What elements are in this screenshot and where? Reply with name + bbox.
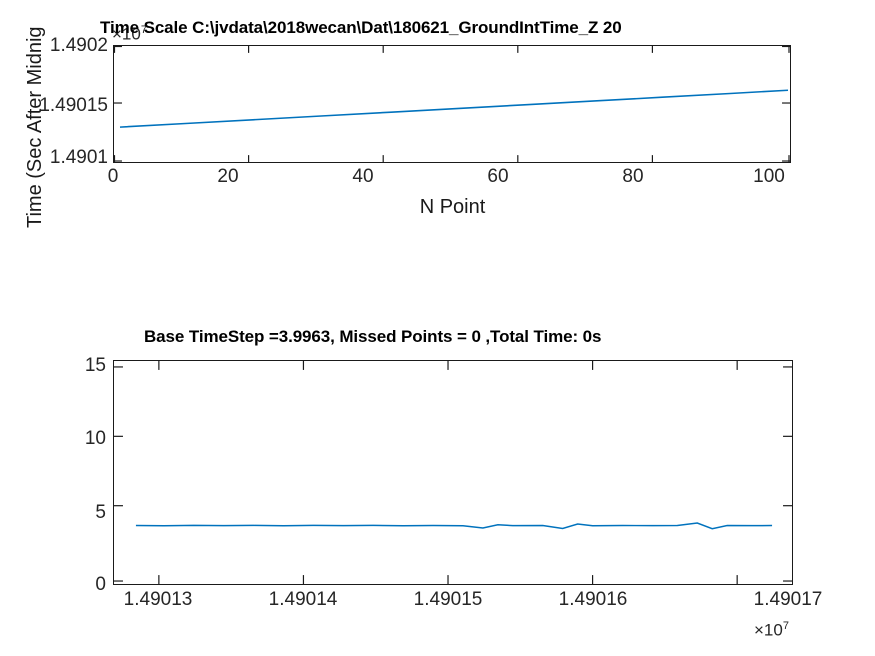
bottom-plot-ytick-2: 5 [48, 502, 106, 524]
bottom-plot-data-layer [114, 361, 792, 584]
bottom-plot-x-exponent: ×107 [754, 620, 789, 641]
matlab-figure-canvas: Time (Sec After Midnig Time Scale C:\jvd… [0, 0, 875, 656]
top-plot-title: Time Scale C:\jvdata\2018wecan\Dat\18062… [100, 18, 622, 38]
bottom-plot-axes [113, 360, 793, 585]
bottom-plot-title: Base TimeStep =3.9963, Missed Points = 0… [144, 327, 601, 347]
top-plot-xtick-4: 80 [613, 166, 653, 188]
top-plot-xtick-0: 0 [93, 166, 133, 188]
top-plot-xlabel: N Point [0, 196, 875, 219]
bottom-plot-ytick-0: 15 [48, 355, 106, 377]
bottom-plot-xtick-1: 1.49014 [255, 589, 351, 611]
top-plot-xtick-2: 40 [343, 166, 383, 188]
bottom-plot-x-exponent-power: 7 [783, 620, 789, 632]
bottom-plot-xtick-4: 1.49017 [740, 589, 836, 611]
bottom-plot-xtick-2: 1.49015 [400, 589, 496, 611]
bottom-plot-ytick-3: 0 [48, 574, 106, 596]
top-plot-ytick-1: 1.49015 [20, 95, 108, 117]
bottom-plot-xtick-3: 1.49016 [545, 589, 641, 611]
top-plot-axes [113, 45, 791, 163]
bottom-plot-series-line [136, 523, 772, 529]
bottom-plot-x-exponent-base: ×10 [754, 621, 783, 640]
top-plot-xtick-5: 100 [745, 166, 793, 188]
bottom-plot-ytick-1: 10 [48, 428, 106, 450]
top-plot-xtick-1: 20 [208, 166, 248, 188]
top-plot-series-line [120, 90, 788, 127]
top-plot-xtick-3: 60 [478, 166, 518, 188]
bottom-plot-xtick-0: 1.49013 [110, 589, 206, 611]
top-plot-ytick-0: 1.4902 [28, 35, 108, 57]
top-plot-data-layer [114, 46, 790, 162]
